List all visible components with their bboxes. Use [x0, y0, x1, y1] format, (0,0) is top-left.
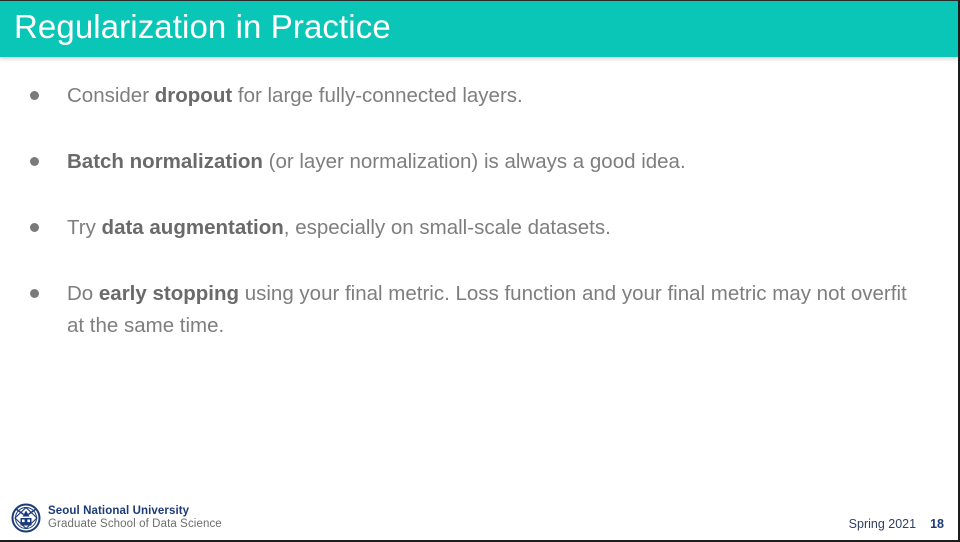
snu-crest-icon — [10, 502, 42, 534]
bullet-dot-icon — [30, 223, 39, 232]
list-item: Consider dropout for large fully-connect… — [0, 80, 960, 112]
bullet-dot-icon — [30, 91, 39, 100]
bullet-text: Try data augmentation, especially on sma… — [67, 212, 920, 244]
list-item: Try data augmentation, especially on sma… — [0, 212, 960, 244]
school-name: Graduate School of Data Science — [48, 518, 222, 531]
bullet-text: Do early stopping using your final metri… — [67, 278, 920, 342]
bullet-text: Batch normalization (or layer normalizat… — [67, 146, 920, 178]
bullet-dot-icon — [30, 157, 39, 166]
footer-names: Seoul National University Graduate Schoo… — [48, 505, 222, 531]
title-banner: Regularization in Practice — [0, 1, 960, 57]
page-number: 18 — [930, 517, 944, 531]
university-name: Seoul National University — [48, 505, 222, 518]
bullet-dot-icon — [30, 289, 39, 298]
footer-meta: Spring 2021 18 — [849, 517, 944, 531]
bullet-list: Consider dropout for large fully-connect… — [0, 57, 960, 342]
footer-branding: Seoul National University Graduate Schoo… — [10, 502, 222, 534]
page-title: Regularization in Practice — [14, 8, 391, 46]
slide: Regularization in Practice Consider drop… — [0, 0, 960, 542]
bullet-text: Consider dropout for large fully-connect… — [67, 80, 920, 112]
list-item: Batch normalization (or layer normalizat… — [0, 146, 960, 178]
list-item: Do early stopping using your final metri… — [0, 278, 960, 342]
term-label: Spring 2021 — [849, 517, 916, 531]
